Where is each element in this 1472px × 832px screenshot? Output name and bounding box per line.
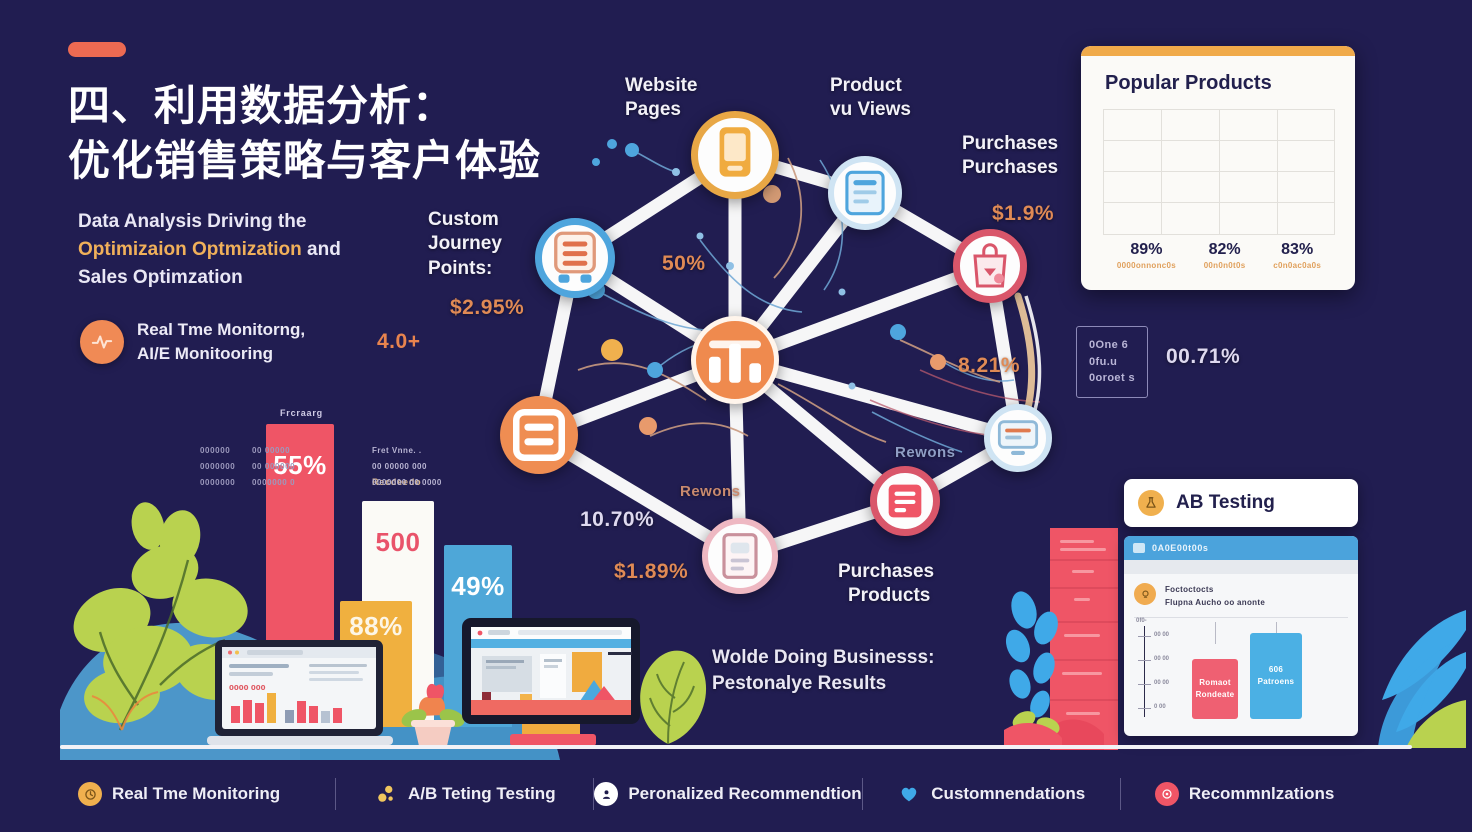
node-content-hub[interactable] [500,396,578,474]
ab-row-icon [1134,583,1156,605]
label-purchase-products-l1: Purchases [838,560,934,584]
heart-glyph [897,783,921,805]
label-website-pages-l1: Website [625,74,698,98]
x-value-1: 89% [1117,241,1176,259]
label-custom-journey-l2: Journey [428,232,502,256]
node-orders[interactable] [870,466,940,536]
label-custom-journey-l3: Points: [428,257,502,281]
split-test-glyph [375,783,397,805]
ab-axis-tick [1138,684,1151,685]
legend-item-real-time-monitoring[interactable]: Real Tme Monitoring [60,782,335,806]
x-sub-3: c0n0ac0a0s [1273,261,1321,270]
ab-axis-tick [1138,708,1151,709]
chart-bars [1103,108,1335,234]
ab-panel-header: 0A0E00t00s [1124,536,1358,560]
person-glyph [600,788,613,801]
ab-y-label: 00 00 [1154,656,1169,662]
receipt-icon [708,524,772,588]
ab-bar-red-l2: Rondeate [1196,690,1235,699]
legend-divider [60,745,1412,749]
activity-icon [91,331,113,353]
legend-separator [862,778,863,810]
popular-products-card[interactable]: Popular Products [1081,46,1355,290]
network-caption-l2: Pestonalye Results [712,671,934,697]
laptop-mockup: 0000 000 [205,638,395,750]
x-label-2: 82% 00n0n0t0s [1204,241,1246,270]
label-product-views: Product vu Views [830,74,911,123]
callout-line-2: 0oroet s [1089,370,1135,387]
mobile-device-icon [698,118,772,192]
popular-products-chart [1103,109,1335,235]
ab-testing-panel[interactable]: 0A0E00t00s Foctoctocts Flupna Aucho oo a… [1124,536,1358,736]
target-glyph [1161,788,1173,800]
svg-text:0000 000: 0000 000 [229,684,266,692]
metric-ten-seventy: 10.70% [580,508,654,532]
heart-icon [897,782,921,806]
card-list-icon [500,396,578,474]
label-website-pages-l2: Pages [625,98,698,122]
popular-products-title: Popular Products [1105,72,1355,95]
legend-item-ab-testing[interactable]: A/B Teting Testing [336,782,593,806]
bar-tag-top: Frcraarg [280,408,323,418]
ab-axis-tick [1138,660,1151,661]
ab-axis-top-label: 0f0- [1136,618,1147,624]
node-product-views[interactable] [828,156,902,230]
node-website-pages[interactable] [691,111,779,199]
label-purchases: Purchases Purchases [962,132,1058,181]
feature-text: Real Tme Monitorng, AI/E Monitooring [137,318,352,366]
ab-row-line-2: Flupna Aucho oo anonte [1165,596,1265,609]
legend-label: Real Tme Monitoring [112,784,280,804]
ab-y-label: 0 00 [1154,704,1166,710]
infographic-canvas: 55% 500 49% 88% Frcraarg Recdeedo 000000… [0,0,1472,832]
ab-axis-tick [1138,636,1151,637]
label-product-views-l2: vu Views [830,98,911,122]
node-purchases[interactable] [953,229,1027,303]
legend-label: Peronalized Recommendtion [628,784,861,804]
ab-y-label: 00 00 [1154,680,1169,686]
node-reports[interactable] [984,404,1052,472]
edge-note-center: Rewons [680,483,741,500]
server-stack-icon [542,225,608,291]
feature-line-2: AI/E Monitooring [137,342,352,366]
label-purchases-l1: Purchases [962,132,1058,156]
edge-note-right: Rewons [895,444,956,461]
target-icon [1155,782,1179,806]
label-purchases-l2: Purchases [962,156,1058,180]
feature-line-1: Real Tme Monitorng, [137,318,352,342]
x-value-3: 83% [1273,241,1321,259]
ab-chart-axis [1144,626,1145,717]
label-purchase-products-l2: Products [838,584,934,608]
metric-journey-rate: $2.95% [450,296,524,320]
monitoring-badge [80,320,124,364]
metric-zero-seventyone: 00.71% [1166,345,1240,369]
metric-fifty: 50% [662,252,706,276]
legend-separator [1120,778,1121,810]
ab-bar-red-l1: Romaot [1199,678,1231,687]
ab-bar-blue-l2: Patroens [1258,677,1295,686]
clock-icon [78,782,102,806]
subtitle-line-2-highlight: Optimizaion Optmization [78,239,302,260]
flask-icon [1144,496,1158,510]
x-label-1: 89% 0000onnonc0s [1117,241,1176,270]
person-icon [594,782,618,806]
x-label-3: 83% c0n0ac0a0s [1273,241,1321,270]
label-custom-journey-l1: Custom [428,208,502,232]
ab-bar-red: Romaot Rondeate [1192,659,1238,719]
ab-row-text: Foctoctocts Flupna Aucho oo anonte [1165,583,1265,609]
ab-y-label: 00 00 [1154,632,1169,638]
bar-chart-icon [696,321,774,399]
node-hub-analytics[interactable] [691,316,779,404]
x-sub-1: 0000onnonc0s [1117,261,1176,270]
callout-line-1: 0One 6 0fu.u [1089,337,1135,370]
node-purchase-products[interactable] [702,518,778,594]
subtitle-line-2-tail: and [302,239,341,260]
ab-row-line-1: Foctoctocts [1165,583,1265,596]
clock-glyph [84,788,97,801]
legend-label: A/B Teting Testing [408,784,556,804]
monitor-icon [990,410,1046,466]
ab-panel-row: Foctoctocts Flupna Aucho oo anonte [1124,574,1358,609]
network-caption-l1: Wolde Doing Businesss: [712,645,934,671]
label-purchase-products: Purchases Products [838,560,934,609]
ab-panel-chart: 00 00 00 00 00 00 0 00 0f0- Romaot Ronde… [1134,617,1348,721]
legend-label: Recommnlzations [1189,784,1334,804]
split-test-icon [374,782,398,806]
legend-item-customnendations[interactable]: Customnendations [863,782,1120,806]
metric-purchase-value: $1.9% [992,202,1054,226]
ab-bar-stem [1215,622,1216,644]
ab-testing-card[interactable]: AB Testing [1124,479,1358,527]
ab-bar-blue: 606 Patroens [1250,633,1302,719]
list-card-icon [877,473,933,529]
network-callout-box: 0One 6 0fu.u 0oroet s [1076,326,1148,398]
legend-bar: Real Tme Monitoring A/B Teting Testing [60,770,1412,818]
metric-one-eightynine: $1.89% [614,560,688,584]
legend-item-recommnlzations[interactable]: Recommnlzations [1121,782,1412,806]
metric-eight-twentyone: 8.21% [958,354,1020,378]
label-product-views-l1: Product [830,74,911,98]
ab-testing-title: AB Testing [1176,492,1275,514]
window-chip-icon [1133,543,1145,553]
document-icon [834,162,896,224]
potted-plant [398,668,468,748]
label-website-pages: Website Pages [625,74,698,123]
legend-item-personalized-recommendation[interactable]: Peronalized Recommendtion [594,782,861,806]
accent-pill [68,42,126,57]
x-sub-2: 00n0n0t0s [1204,261,1246,270]
legend-separator [593,778,594,810]
ab-testing-badge [1138,490,1164,516]
label-custom-journey: Custom Journey Points: [428,208,502,281]
feature-realtime-monitoring[interactable]: Real Tme Monitorng, AI/E Monitooring 4.0… [80,318,420,366]
x-value-2: 82% [1204,241,1246,259]
shopping-bag-icon [960,236,1020,296]
ab-panel-subbar [1124,560,1358,574]
node-custom-journey[interactable] [535,218,615,298]
card-top-accent [1081,46,1355,56]
ab-bar-blue-l1: 606 [1269,665,1283,674]
chart-x-labels: 89% 0000onnonc0s 82% 00n0n0t0s 83% c0n0a… [1103,241,1335,270]
legend-label: Customnendations [931,784,1085,804]
lightbulb-icon [1140,589,1151,600]
legend-separator [335,778,336,810]
ab-panel-header-text: 0A0E00t00s [1152,543,1209,553]
network-caption: Wolde Doing Businesss: Pestonalye Result… [712,645,934,696]
bar-micro-rows: 00000000 00000 000000000 000000 00000000… [200,443,295,491]
